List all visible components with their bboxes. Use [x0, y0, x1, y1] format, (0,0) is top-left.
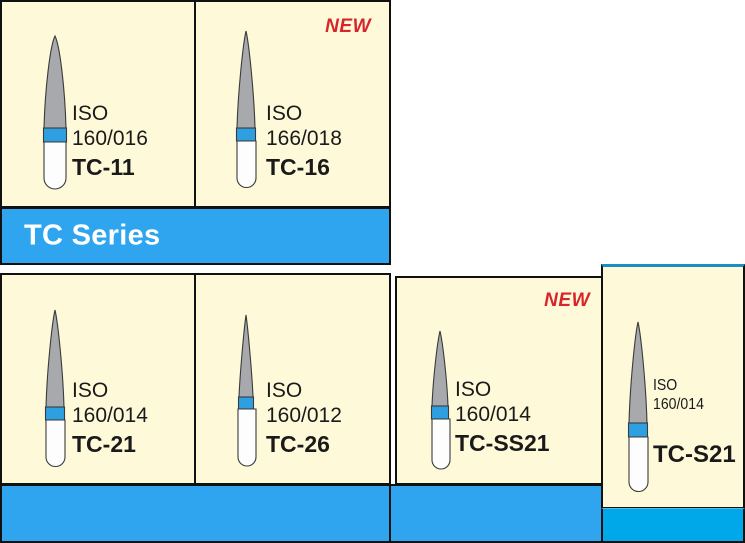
bottom-banner-middle [389, 484, 603, 543]
product-code: TC-21 [72, 431, 148, 458]
new-badge-tc-16: NEW [325, 16, 371, 38]
product-card-tc-16[interactable]: NEW ISO 166/018 TC-16 [194, 0, 391, 208]
product-code: TC-26 [266, 431, 342, 458]
iso-number: 166/018 [266, 127, 342, 152]
iso-number: 160/014 [455, 403, 550, 428]
bur-illustration-tc-26 [221, 311, 271, 471]
series-banner-label: TC Series [24, 220, 161, 253]
iso-number: 160/014 [72, 404, 148, 429]
product-code: TC-11 [72, 154, 148, 181]
product-card-tc-s21[interactable]: ISO 160/014 TC-S21 [601, 264, 745, 509]
iso-label: ISO [653, 377, 726, 396]
series-banner: TC Series [0, 207, 391, 265]
iso-label: ISO [72, 102, 148, 127]
bottom-banner-right [601, 508, 745, 543]
product-text-tc-21: ISO 160/014 TC-21 [72, 379, 148, 458]
product-card-tc-ss21[interactable]: NEW ISO 160/014 TC-SS21 [395, 276, 608, 485]
product-code: TC-S21 [653, 441, 736, 469]
product-text-tc-16: ISO 166/018 TC-16 [266, 102, 342, 181]
product-text-tc-ss21: ISO 160/014 TC-SS21 [455, 378, 550, 457]
bur-illustration-tc-16 [221, 28, 271, 193]
product-code: TC-SS21 [455, 430, 550, 457]
product-code: TC-16 [266, 154, 342, 181]
iso-number: 160/012 [266, 404, 342, 429]
product-card-tc-21[interactable]: ISO 160/014 TC-21 [0, 273, 196, 485]
bottom-banner-left [0, 484, 391, 543]
iso-label: ISO [266, 379, 342, 404]
product-card-tc-26[interactable]: ISO 160/012 TC-26 [194, 273, 391, 485]
product-card-tc-11[interactable]: ISO 160/016 TC-11 [0, 0, 196, 208]
product-text-tc-s21: ISO 160/014 TC-S21 [653, 377, 736, 469]
product-text-tc-26: ISO 160/012 TC-26 [266, 379, 342, 458]
iso-label: ISO [455, 378, 550, 403]
iso-label: ISO [72, 379, 148, 404]
iso-label: ISO [266, 102, 342, 127]
iso-number: 160/014 [653, 396, 726, 415]
iso-number: 160/016 [72, 127, 148, 152]
new-badge-tc-ss21: NEW [544, 290, 590, 312]
product-text-tc-11: ISO 160/016 TC-11 [72, 102, 148, 181]
catalog-sheet: ISO 160/016 TC-11 NEW ISO 166/018 TC-16 … [0, 0, 745, 543]
